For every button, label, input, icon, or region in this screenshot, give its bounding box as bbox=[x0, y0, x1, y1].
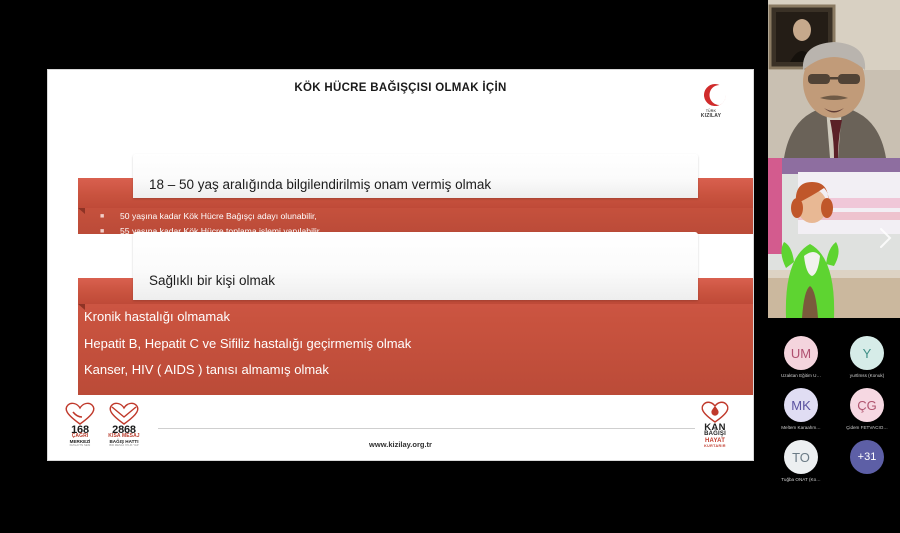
avatar-initials: UM bbox=[791, 346, 811, 361]
chevron-right-icon[interactable] bbox=[876, 226, 894, 250]
list-item: Kronik hastalığı olmamak bbox=[70, 310, 733, 324]
participant-overflow-tile[interactable]: +31 bbox=[834, 440, 900, 477]
avatar: Y bbox=[850, 336, 884, 370]
presentation-slide: KÖK HÜCRE BAĞIŞÇISI OLMAK İÇİN TÜRKKIZIL… bbox=[48, 70, 753, 460]
website-url: www.kizilay.org.tr bbox=[48, 440, 753, 449]
participant-name: Çidem FETVACIO… bbox=[834, 425, 900, 430]
avatar-initials: TO bbox=[792, 450, 810, 465]
participant-tile[interactable]: TO Tuğba ONAT (Ko… bbox=[768, 440, 834, 482]
section-2-heading: Sağlıklı bir kişi olmak bbox=[149, 273, 275, 288]
video-tile-presenter[interactable] bbox=[768, 158, 900, 318]
bullet-dot-icon: ■ bbox=[100, 213, 104, 221]
section-1-heading: 18 – 50 yaş aralığında bilgilendirilmiş … bbox=[149, 177, 491, 192]
participant-tile[interactable]: UM Uzaktan Eğitim U… bbox=[768, 336, 834, 378]
slide-footer: 168 ÇAĞRI MERKEZİ KIZILAY'IN SESİ 2868 K… bbox=[48, 398, 753, 460]
participant-name: Meltem Karaahm… bbox=[768, 425, 834, 430]
heart-phone-icon bbox=[60, 400, 100, 426]
logo-label: TÜRKKIZILAY bbox=[687, 110, 735, 120]
avatar: ÇG bbox=[850, 388, 884, 422]
participant-row: MK Meltem Karaahm… ÇG Çidem FETVACIO… bbox=[768, 388, 900, 440]
list-item: Kanser, HIV ( AIDS ) tanısı almamış olma… bbox=[70, 363, 733, 377]
page-title: KÖK HÜCRE BAĞIŞÇISI OLMAK İÇİN bbox=[48, 82, 753, 94]
participant-grid: UM Uzaktan Eğitim U… Y yurtlmss (Konuk) … bbox=[768, 336, 900, 492]
video-tile-speaker[interactable] bbox=[768, 0, 900, 158]
participant-tile[interactable]: Y yurtlmss (Konuk) bbox=[834, 336, 900, 378]
participant-rail: UM Uzaktan Eğitim U… Y yurtlmss (Konuk) … bbox=[768, 0, 900, 533]
section-health-requirement: Sağlıklı bir kişi olmak Kronik hastalığı… bbox=[48, 232, 753, 395]
avatar: UM bbox=[784, 336, 818, 370]
participant-row: UM Uzaktan Eğitim U… Y yurtlmss (Konuk) bbox=[768, 336, 900, 388]
overflow-badge: +31 bbox=[850, 440, 884, 474]
participant-row: TO Tuğba ONAT (Ko… +31 bbox=[768, 440, 900, 492]
avatar-initials: MK bbox=[791, 398, 811, 413]
turkish-red-crescent-logo: TÜRKKIZILAY bbox=[687, 80, 735, 120]
section-age-requirement: 18 – 50 yaş aralığında bilgilendirilmiş … bbox=[48, 154, 753, 234]
participant-name: yurtlmss (Konuk) bbox=[834, 373, 900, 378]
avatar: MK bbox=[784, 388, 818, 422]
blood-logo-line2: BAĞIŞI bbox=[693, 431, 737, 437]
participant-tile[interactable]: MK Meltem Karaahm… bbox=[768, 388, 834, 430]
health-bullet-list: Kronik hastalığı olmamak Hepatit B, Hepa… bbox=[70, 310, 733, 390]
section-1-subitem: ■ 50 yaşına kadar Kök Hücre Bağışçı aday… bbox=[100, 212, 713, 221]
avatar-initials: ÇG bbox=[857, 398, 877, 413]
screen-share-stage[interactable]: KÖK HÜCRE BAĞIŞÇISI OLMAK İÇİN TÜRKKIZIL… bbox=[0, 0, 768, 533]
overflow-count: +31 bbox=[858, 451, 877, 463]
heart-drop-icon bbox=[693, 398, 737, 424]
participant-name: Uzaktan Eğitim U… bbox=[768, 373, 834, 378]
avatar: TO bbox=[784, 440, 818, 474]
app-window: KÖK HÜCRE BAĞIŞÇISI OLMAK İÇİN TÜRKKIZIL… bbox=[0, 0, 900, 533]
avatar-initials: Y bbox=[863, 346, 872, 361]
footer-divider bbox=[158, 428, 695, 429]
section-1-heading-plate: 18 – 50 yaş aralığında bilgilendirilmiş … bbox=[133, 154, 698, 198]
participant-tile[interactable]: ÇG Çidem FETVACIO… bbox=[834, 388, 900, 430]
section-2-heading-plate: Sağlıklı bir kişi olmak bbox=[133, 232, 698, 300]
list-item: Hepatit B, Hepatit C ve Sifiliz hastalığ… bbox=[70, 337, 733, 351]
heart-envelope-icon bbox=[104, 400, 144, 426]
participant-name: Tuğba ONAT (Ko… bbox=[768, 477, 834, 482]
